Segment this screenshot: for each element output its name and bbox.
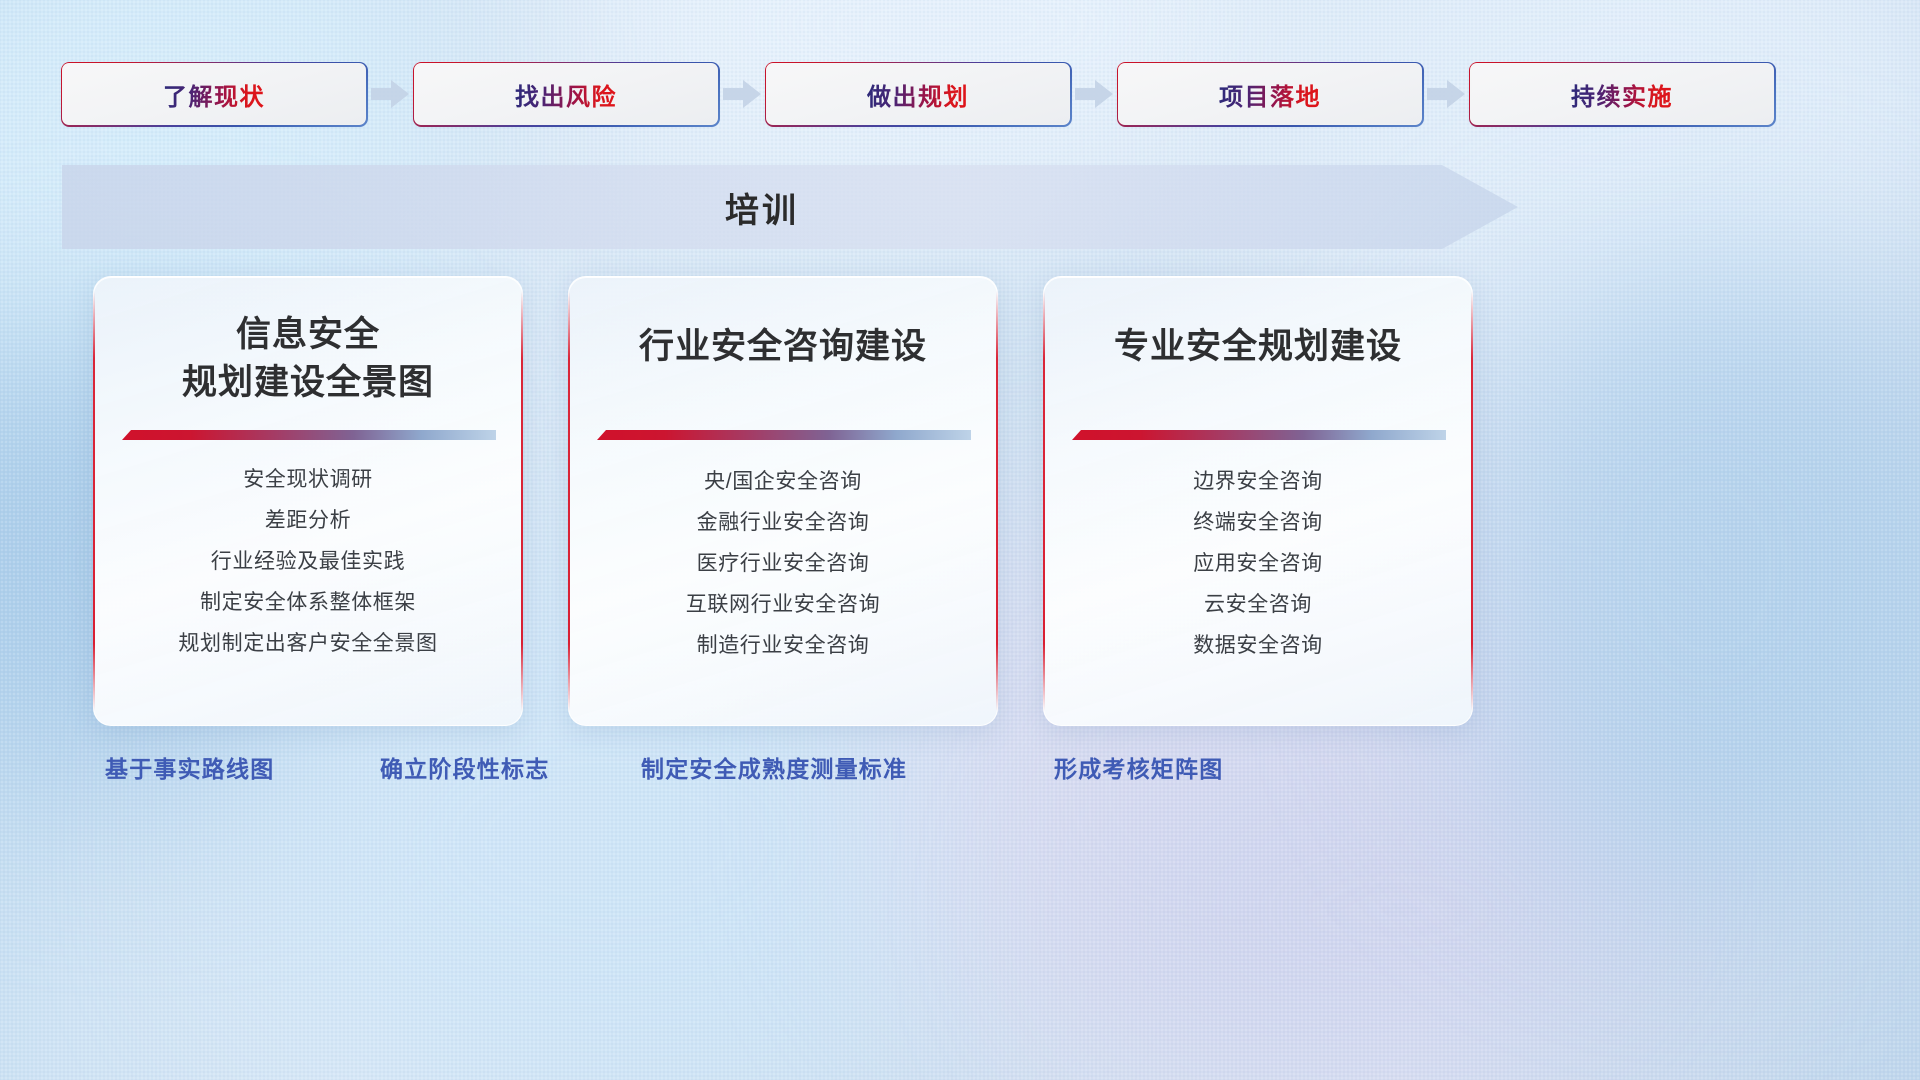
arrow-right-icon — [1422, 63, 1470, 125]
service-card-3[interactable]: 专业安全规划建设边界安全咨询终端安全咨询应用安全咨询云安全咨询数据安全咨询 — [1043, 276, 1473, 726]
process-step-1[interactable]: 了解现状 — [62, 63, 366, 125]
process-step-label: 了解现状 — [163, 77, 265, 112]
card-list-item[interactable]: 云安全咨询 — [1044, 584, 1472, 625]
card-list-item[interactable]: 数据安全咨询 — [1044, 625, 1472, 666]
card-list-item[interactable]: 差距分析 — [94, 500, 522, 541]
card-title-line: 行业安全咨询建设 — [569, 323, 997, 371]
arrow-right-icon — [1070, 63, 1118, 125]
card-list-item[interactable]: 制定安全体系整体框架 — [94, 582, 522, 623]
card-item-list: 安全现状调研差距分析行业经验及最佳实践制定安全体系整体框架规划制定出客户安全全景… — [94, 459, 522, 664]
card-list-item[interactable]: 央/国企安全咨询 — [569, 461, 997, 502]
card-divider — [1072, 427, 1446, 437]
card-item-list: 边界安全咨询终端安全咨询应用安全咨询云安全咨询数据安全咨询 — [1044, 461, 1472, 666]
card-list-item[interactable]: 互联网行业安全咨询 — [569, 584, 997, 625]
card-list-item[interactable]: 安全现状调研 — [94, 459, 522, 500]
card-title-line: 专业安全规划建设 — [1044, 323, 1472, 371]
process-step-2[interactable]: 找出风险 — [414, 63, 718, 125]
process-step-bar: 了解现状找出风险做出规划项目落地持续实施 — [62, 63, 1860, 125]
card-title-line: 信息安全 — [94, 311, 522, 359]
training-banner: 培训 — [62, 165, 1518, 249]
arrow-right-icon — [366, 63, 414, 125]
service-card-2[interactable]: 行业安全咨询建设央/国企安全咨询金融行业安全咨询医疗行业安全咨询互联网行业安全咨… — [568, 276, 998, 726]
footer-label-group: 基于事实路线图确立阶段性标志制定安全成熟度测量标准形成考核矩阵图 — [0, 750, 1920, 798]
process-step-label: 持续实施 — [1571, 77, 1673, 112]
footer-label-1: 基于事实路线图 — [105, 750, 274, 784]
card-divider — [122, 427, 496, 437]
card-title: 信息安全规划建设全景图 — [94, 311, 522, 406]
card-title: 专业安全规划建设 — [1044, 323, 1472, 371]
footer-label-4: 形成考核矩阵图 — [1054, 750, 1223, 784]
footer-label-2: 确立阶段性标志 — [380, 750, 549, 784]
card-list-item[interactable]: 终端安全咨询 — [1044, 502, 1472, 543]
card-list-item[interactable]: 边界安全咨询 — [1044, 461, 1472, 502]
card-title: 行业安全咨询建设 — [569, 323, 997, 371]
process-step-3[interactable]: 做出规划 — [766, 63, 1070, 125]
service-card-group: 信息安全规划建设全景图安全现状调研差距分析行业经验及最佳实践制定安全体系整体框架… — [0, 276, 1920, 726]
card-list-item[interactable]: 应用安全咨询 — [1044, 543, 1472, 584]
footer-label-3: 制定安全成熟度测量标准 — [641, 750, 907, 784]
process-step-label: 做出规划 — [867, 77, 969, 112]
process-step-4[interactable]: 项目落地 — [1118, 63, 1422, 125]
card-item-list: 央/国企安全咨询金融行业安全咨询医疗行业安全咨询互联网行业安全咨询制造行业安全咨… — [569, 461, 997, 666]
service-card-1[interactable]: 信息安全规划建设全景图安全现状调研差距分析行业经验及最佳实践制定安全体系整体框架… — [93, 276, 523, 726]
card-divider — [597, 427, 971, 437]
process-step-label: 项目落地 — [1219, 77, 1321, 112]
card-title-line: 规划建设全景图 — [94, 359, 522, 407]
banner-label: 培训 — [62, 165, 1462, 249]
card-list-item[interactable]: 行业经验及最佳实践 — [94, 541, 522, 582]
arrow-right-icon — [718, 63, 766, 125]
process-step-label: 找出风险 — [515, 77, 617, 112]
process-step-5[interactable]: 持续实施 — [1470, 63, 1774, 125]
card-list-item[interactable]: 医疗行业安全咨询 — [569, 543, 997, 584]
card-list-item[interactable]: 制造行业安全咨询 — [569, 625, 997, 666]
card-list-item[interactable]: 金融行业安全咨询 — [569, 502, 997, 543]
card-list-item[interactable]: 规划制定出客户安全全景图 — [94, 623, 522, 664]
